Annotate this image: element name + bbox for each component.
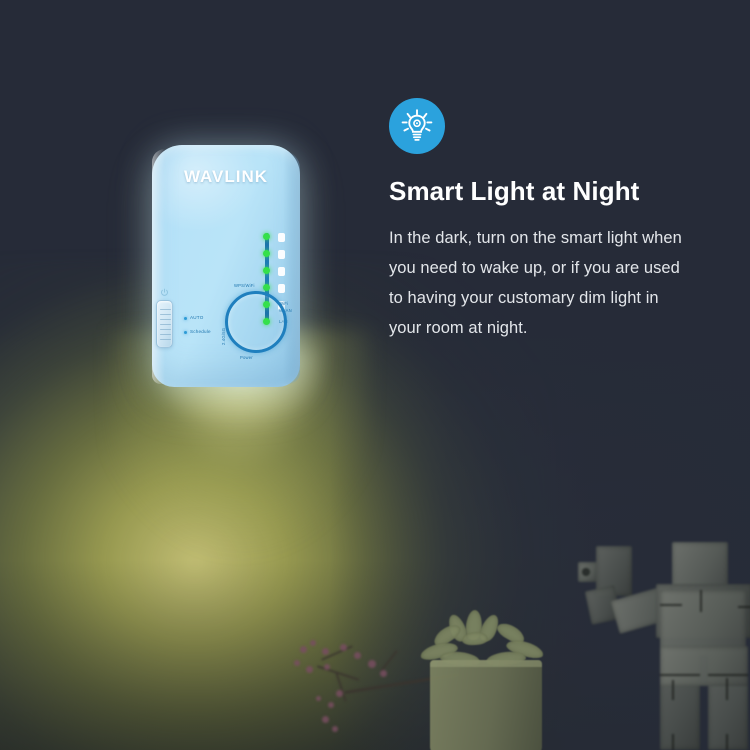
mode-dot-auto xyxy=(184,317,187,320)
led-dot xyxy=(263,250,270,257)
led-dot xyxy=(263,233,270,240)
led-dot xyxy=(263,284,270,291)
pot-rim xyxy=(430,660,542,667)
page-title: Smart Light at Night xyxy=(389,176,709,207)
brand-logo: WAVLINK xyxy=(152,167,300,187)
wifi-range-extender[interactable]: WAVLINK WiFi WLAN LAN WPS/WiFi 2.4G/5G P… xyxy=(152,145,300,387)
product-feature-scene: WAVLINK WiFi WLAN LAN WPS/WiFi 2.4G/5G P… xyxy=(0,0,750,750)
wooden-robot xyxy=(560,528,750,750)
device-dial[interactable] xyxy=(225,291,287,353)
mode-dot-schedule xyxy=(184,331,187,334)
power-icon xyxy=(160,288,169,297)
dial-label-power: Power xyxy=(240,355,253,360)
dial-ring xyxy=(225,291,287,353)
mode-label-schedule: Schedule xyxy=(190,329,211,334)
led-dot xyxy=(263,267,270,274)
feature-text-panel: Smart Light at Night In the dark, turn o… xyxy=(389,98,709,343)
led-dash xyxy=(278,250,285,259)
light-bulb-icon xyxy=(389,98,445,154)
led-dash xyxy=(278,267,285,276)
led-dash xyxy=(278,233,285,242)
dial-label-band: 2.4G/5G xyxy=(221,328,226,345)
robot-hand-hole xyxy=(582,568,590,576)
robot-head xyxy=(672,542,728,590)
plant-pot xyxy=(430,660,542,750)
device-vent-grille[interactable] xyxy=(156,300,173,348)
feature-description: In the dark, turn on the smart light whe… xyxy=(389,223,689,343)
dial-label-wps: WPS/WiFi xyxy=(234,283,255,288)
mode-label-auto: AUTO xyxy=(190,315,203,320)
